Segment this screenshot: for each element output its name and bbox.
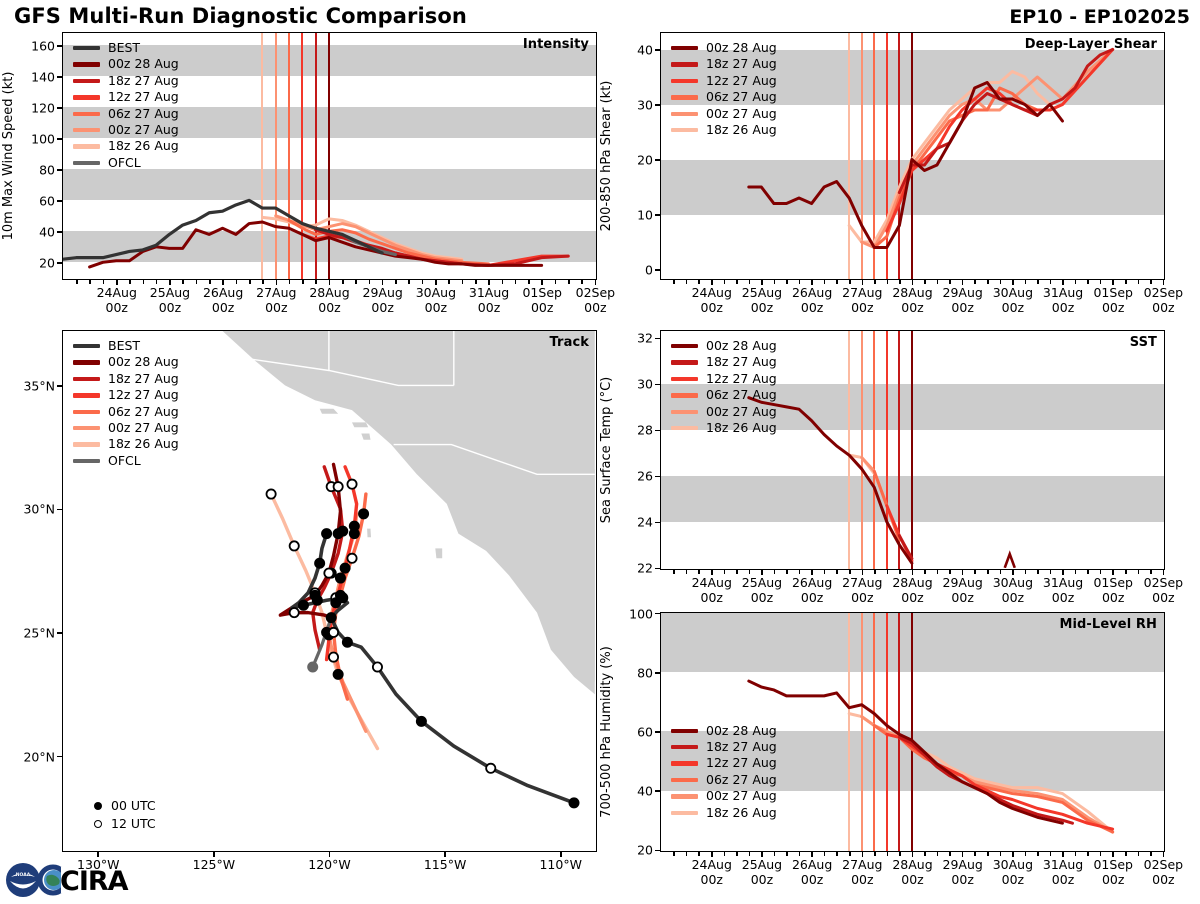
intensity-xtick-minor: [262, 280, 264, 284]
shear-xtick-minor: [937, 280, 939, 284]
xtick-hour: 00z: [701, 872, 723, 887]
intensity-xtick-minor: [89, 280, 91, 284]
track-panel-title: Track: [550, 335, 589, 350]
legend-row: 18z 26 Aug: [671, 122, 777, 138]
rh-xtick-mark: [1012, 852, 1014, 857]
legend-row: BEST: [73, 338, 179, 354]
intensity-xtick-mark: [595, 280, 597, 285]
xtick-hour: 00z: [1052, 590, 1074, 605]
legend-row: 00z 28 Aug: [671, 338, 777, 354]
series-line-18z-27-aug: [899, 50, 1112, 193]
sst-xtick-label: 02Sep00z: [1144, 576, 1183, 605]
intensity-chart-panel: IntensityBEST00z 28 Aug18z 27 Aug12z 27 …: [62, 32, 597, 280]
legend-row: 00z 27 Aug: [671, 404, 777, 420]
shear-yaxis-label: 200-850 hPa Shear (kt): [599, 81, 614, 232]
sst-ytick-mark: [655, 568, 660, 570]
rh-legend-runs: 00z 28 Aug18z 27 Aug12z 27 Aug06z 27 Aug…: [671, 723, 777, 821]
legend-label: 18z 26 Aug: [706, 420, 777, 436]
legend-row: 18z 27 Aug: [671, 56, 777, 72]
xtick-day: 26Aug: [792, 857, 832, 872]
sst-xtick-minor: [937, 570, 939, 574]
sst-xtick-minor: [1050, 570, 1052, 574]
intensity-xtick-minor: [342, 280, 344, 284]
legend-swatch: [73, 128, 100, 132]
xtick-day: 28Aug: [892, 285, 932, 300]
track-marker-open: [290, 541, 299, 550]
shear-xtick-minor: [949, 280, 951, 284]
legend-swatch: [671, 95, 698, 99]
legend-label: 18z 27 Aug: [706, 739, 777, 755]
filled-circle-icon: [94, 802, 102, 810]
xtick-hour: 00z: [751, 300, 773, 315]
legend-label: 18z 26 Aug: [108, 436, 179, 452]
shear-xtick-mark: [1062, 280, 1064, 285]
xtick-hour: 00z: [159, 300, 181, 315]
track-ytick-mark: [57, 756, 62, 758]
intensity-xtick-mark: [435, 280, 437, 285]
shear-panel-title: Deep-Layer Shear: [1025, 37, 1157, 52]
intensity-xtick-mark: [169, 280, 171, 285]
legend-label: 18z 26 Aug: [706, 805, 777, 821]
rh-ytick-label: 80: [620, 665, 653, 680]
intensity-ytick-mark: [57, 45, 62, 47]
xtick-hour: 00z: [1102, 590, 1124, 605]
intensity-xtick-label: 28Aug00z: [309, 286, 349, 315]
track-xtick-mark: [329, 852, 331, 857]
track-marker-filled: [334, 670, 343, 679]
sst-yaxis-label: Sea Surface Temp (°C): [599, 377, 614, 524]
rh-xtick-label: 27Aug00z: [842, 858, 882, 887]
legend-swatch: [73, 459, 100, 463]
shear-xtick-mark: [761, 280, 763, 285]
intensity-xtick-minor: [302, 280, 304, 284]
legend-label: 18z 27 Aug: [706, 56, 777, 72]
rh-xtick-minor: [949, 852, 951, 856]
noaa-logo: NOAA: [6, 863, 40, 897]
intensity-xtick-label: 02Sep00z: [576, 286, 615, 315]
intensity-xtick-minor: [462, 280, 464, 284]
xtick-day: 01Sep: [1093, 285, 1132, 300]
channel-island-a: [320, 409, 338, 414]
legend-label: 12z 27 Aug: [706, 755, 777, 771]
sst-xtick-minor: [1087, 570, 1089, 574]
legend-swatch: [671, 128, 698, 132]
track-ytick-label: 25°N: [14, 625, 55, 640]
track-xtick-mark: [97, 852, 99, 857]
xtick-day: 25Aug: [742, 575, 782, 590]
rh-xtick-minor: [937, 852, 939, 856]
intensity-ytick-mark: [57, 262, 62, 264]
xtick-day: 31Aug: [1043, 285, 1083, 300]
utc-legend-row: 12 UTC: [85, 815, 156, 833]
rh-xtick-minor: [1037, 852, 1039, 856]
xtick-day: 31Aug: [469, 285, 509, 300]
sst-xtick-minor: [974, 570, 976, 574]
xtick-hour: 00z: [851, 300, 873, 315]
intensity-xtick-minor: [448, 280, 450, 284]
shear-xtick-minor: [1000, 280, 1002, 284]
xtick-hour: 00z: [1152, 590, 1174, 605]
legend-swatch: [73, 95, 100, 99]
intensity-xtick-label: 01Sep00z: [522, 286, 561, 315]
intensity-xtick-label: 25Aug00z: [150, 286, 190, 315]
sst-xtick-label: 25Aug00z: [742, 576, 782, 605]
rh-ytick-mark: [655, 613, 660, 615]
sst-xtick-minor: [836, 570, 838, 574]
intensity-xtick-minor: [196, 280, 198, 284]
legend-swatch: [671, 344, 698, 348]
intensity-ytick-label: 60: [22, 193, 55, 208]
rh-xtick-minor: [849, 852, 851, 856]
legend-row: BEST: [73, 40, 179, 56]
rh-xtick-label: 02Sep00z: [1144, 858, 1183, 887]
rh-xtick-minor: [899, 852, 901, 856]
legend-row: 12z 27 Aug: [671, 371, 777, 387]
xtick-day: 24Aug: [97, 285, 137, 300]
xtick-hour: 00z: [1002, 872, 1024, 887]
shear-xtick-mark: [711, 280, 713, 285]
shear-xtick-mark: [1012, 280, 1014, 285]
rh-ytick-label: 40: [620, 784, 653, 799]
intensity-panel-title: Intensity: [523, 37, 589, 52]
rh-xtick-minor: [924, 852, 926, 856]
xtick-day: 02Sep: [1144, 857, 1183, 872]
shear-xtick-mark: [962, 280, 964, 285]
xtick-hour: 00z: [318, 300, 340, 315]
intensity-legend-full: BEST00z 28 Aug18z 27 Aug12z 27 Aug06z 27…: [73, 40, 179, 171]
intensity-xtick-minor: [528, 280, 530, 284]
sst-xtick-minor: [1075, 570, 1077, 574]
utc-legend-marker-wrap: [85, 802, 111, 810]
legend-swatch: [671, 393, 698, 397]
legend-label: 18z 26 Aug: [108, 138, 179, 154]
utc-legend-row: 00 UTC: [85, 797, 156, 815]
shear-chart-panel: Deep-Layer Shear00z 28 Aug18z 27 Aug12z …: [660, 32, 1165, 280]
shear-ytick-mark: [655, 269, 660, 271]
xtick-day: 26Aug: [203, 285, 243, 300]
track-marker-open: [373, 662, 382, 671]
sst-xtick-minor: [686, 570, 688, 574]
sst-chart-panel: SST00z 28 Aug18z 27 Aug12z 27 Aug06z 27 …: [660, 330, 1165, 570]
utc-legend-marker-wrap: [85, 820, 111, 828]
xtick-day: 02Sep: [1144, 575, 1183, 590]
intensity-xtick-minor: [249, 280, 251, 284]
intensity-xtick-mark: [329, 280, 331, 285]
xtick-day: 02Sep: [1144, 285, 1183, 300]
track-ytick-mark: [57, 385, 62, 387]
legend-swatch: [671, 360, 698, 364]
rh-xtick-minor: [698, 852, 700, 856]
xtick-hour: 00z: [212, 300, 234, 315]
intensity-xtick-minor: [395, 280, 397, 284]
legend-row: 00z 27 Aug: [73, 420, 179, 436]
shear-xtick-label: 24Aug00z: [692, 286, 732, 315]
shear-xtick-mark: [1112, 280, 1114, 285]
xtick-hour: 00z: [584, 300, 606, 315]
shear-ytick-mark: [655, 49, 660, 51]
xtick-day: 24Aug: [692, 285, 732, 300]
shear-ytick-mark: [655, 214, 660, 216]
legend-row: 12z 27 Aug: [671, 73, 777, 89]
shear-xtick-label: 27Aug00z: [842, 286, 882, 315]
shear-xtick-mark: [912, 280, 914, 285]
intensity-ytick-mark: [57, 231, 62, 233]
legend-label: 00z 27 Aug: [706, 788, 777, 804]
rh-xtick-minor: [1087, 852, 1089, 856]
intensity-ytick-mark: [57, 200, 62, 202]
shear-ytick-label: 10: [620, 208, 653, 223]
xtick-day: 28Aug: [892, 857, 932, 872]
xtick-hour: 00z: [1052, 872, 1074, 887]
legend-swatch: [671, 79, 698, 83]
utc-legend-label: 12 UTC: [111, 815, 156, 833]
legend-label: 12z 27 Aug: [108, 387, 179, 403]
rh-panel-title: Mid-Level RH: [1059, 617, 1157, 632]
xtick-hour: 00z: [951, 590, 973, 605]
sst-panel-title: SST: [1130, 335, 1157, 350]
legend-swatch: [671, 112, 698, 116]
legend-label: 00z 28 Aug: [108, 354, 179, 370]
legend-row: 00z 28 Aug: [73, 354, 179, 370]
legend-swatch: [73, 144, 100, 148]
legend-label: 00z 27 Aug: [706, 106, 777, 122]
xtick-hour: 00z: [1102, 300, 1124, 315]
shear-xtick-mark: [862, 280, 864, 285]
shear-xtick-minor: [1025, 280, 1027, 284]
rh-xtick-mark: [711, 852, 713, 857]
xtick-day: 30Aug: [416, 285, 456, 300]
track-ytick-mark: [57, 509, 62, 511]
legend-row: 06z 27 Aug: [73, 106, 179, 122]
sst-ytick-mark: [655, 338, 660, 340]
xtick-hour: 00z: [801, 872, 823, 887]
shear-xtick-minor: [673, 280, 675, 284]
xtick-day: 25Aug: [742, 857, 782, 872]
shear-xtick-minor: [1125, 280, 1127, 284]
legend-swatch: [671, 46, 698, 50]
xtick-hour: 00z: [901, 300, 923, 315]
shear-ytick-label: 20: [620, 153, 653, 168]
rh-chart-panel: Mid-Level RH00z 28 Aug18z 27 Aug12z 27 A…: [660, 612, 1165, 852]
rh-xtick-minor: [749, 852, 751, 856]
intensity-xtick-label: 29Aug00z: [363, 286, 403, 315]
legend-label: OFCL: [108, 453, 141, 469]
legend-row: 00z 28 Aug: [671, 723, 777, 739]
intensity-xtick-mark: [541, 280, 543, 285]
track-marker-filled: [336, 573, 345, 582]
legend-row: 00z 27 Aug: [671, 788, 777, 804]
rh-xtick-label: 26Aug00z: [792, 858, 832, 887]
sst-xtick-label: 31Aug00z: [1043, 576, 1083, 605]
rh-xtick-label: 24Aug00z: [692, 858, 732, 887]
track-marker-filled: [338, 593, 347, 602]
legend-swatch: [671, 729, 698, 733]
sst-xtick-minor: [774, 570, 776, 574]
xtick-hour: 00z: [801, 590, 823, 605]
legend-swatch: [73, 112, 100, 116]
shear-xtick-label: 26Aug00z: [792, 286, 832, 315]
legend-swatch: [671, 778, 698, 782]
track-marker-open: [347, 480, 356, 489]
sst-xtick-minor: [899, 570, 901, 574]
rh-xtick-minor: [987, 852, 989, 856]
shear-ytick-label: 30: [620, 98, 653, 113]
track-xtick-mark: [213, 852, 215, 857]
legend-row: 12z 27 Aug: [73, 89, 179, 105]
sst-ytick-label: 24: [620, 515, 653, 530]
track-marker-filled: [299, 601, 308, 610]
track-marker-filled: [334, 529, 343, 538]
rh-xtick-minor: [824, 852, 826, 856]
xtick-hour: 00z: [1102, 872, 1124, 887]
rh-xtick-mark: [1112, 852, 1114, 857]
legend-row: 00z 28 Aug: [671, 40, 777, 56]
rh-xtick-mark: [761, 852, 763, 857]
utc-legend-label: 00 UTC: [111, 797, 156, 815]
legend-label: BEST: [108, 40, 140, 56]
track-marker-filled: [350, 522, 359, 531]
sst-xtick-label: 30Aug00z: [993, 576, 1033, 605]
shear-xtick-label: 25Aug00z: [742, 286, 782, 315]
intensity-xtick-mark: [382, 280, 384, 285]
legend-swatch: [73, 410, 100, 414]
xtick-hour: 00z: [425, 300, 447, 315]
legend-row: 00z 27 Aug: [671, 106, 777, 122]
legend-row: 18z 27 Aug: [73, 73, 179, 89]
sst-xtick-mark: [1163, 570, 1165, 575]
shear-xtick-label: 31Aug00z: [1043, 286, 1083, 315]
legend-row: 18z 26 Aug: [671, 420, 777, 436]
sst-ytick-label: 30: [620, 377, 653, 392]
legend-label: 12z 27 Aug: [706, 73, 777, 89]
intensity-xtick-minor: [502, 280, 504, 284]
legend-label: 18z 26 Aug: [706, 122, 777, 138]
sst-xtick-label: 28Aug00z: [892, 576, 932, 605]
sst-xtick-minor: [1037, 570, 1039, 574]
legend-label: 06z 27 Aug: [706, 772, 777, 788]
legend-row: 12z 27 Aug: [671, 755, 777, 771]
legend-label: 00z 27 Aug: [108, 122, 179, 138]
xtick-hour: 00z: [701, 590, 723, 605]
intensity-xtick-mark: [222, 280, 224, 285]
legend-row: 18z 27 Aug: [73, 371, 179, 387]
track-ytick-label: 30°N: [14, 502, 55, 517]
legend-label: 06z 27 Aug: [706, 89, 777, 105]
xtick-day: 27Aug: [256, 285, 296, 300]
xtick-day: 01Sep: [1093, 857, 1132, 872]
series-line-12z-27-aug: [887, 50, 1113, 232]
legend-row: 18z 27 Aug: [671, 354, 777, 370]
sst-xtick-mark: [761, 570, 763, 575]
sst-xtick-mark: [811, 570, 813, 575]
legend-swatch: [73, 377, 100, 381]
rh-xtick-minor: [736, 852, 738, 856]
rh-xtick-minor: [1100, 852, 1102, 856]
intensity-ytick-mark: [57, 107, 62, 109]
shear-xtick-minor: [1050, 280, 1052, 284]
track-xtick-label: 130°W: [77, 858, 119, 873]
sst-xtick-mark: [862, 570, 864, 575]
rh-xtick-minor: [1075, 852, 1077, 856]
intensity-ytick-label: 140: [22, 69, 55, 84]
sst-ytick-label: 26: [620, 469, 653, 484]
intensity-xtick-mark: [488, 280, 490, 285]
track-xtick-mark: [560, 852, 562, 857]
xtick-day: 28Aug: [892, 575, 932, 590]
track-marker-filled-gray: [308, 662, 317, 671]
xtick-hour: 00z: [851, 590, 873, 605]
sst-ytick-mark: [655, 384, 660, 386]
xtick-day: 29Aug: [363, 285, 403, 300]
intensity-xtick-mark: [116, 280, 118, 285]
sst-xtick-mark: [1112, 570, 1114, 575]
sst-xtick-mark: [912, 570, 914, 575]
sst-ytick-label: 22: [620, 561, 653, 576]
shear-legend-runs: 00z 28 Aug18z 27 Aug12z 27 Aug06z 27 Aug…: [671, 40, 777, 138]
intensity-ytick-mark: [57, 138, 62, 140]
legend-label: 06z 27 Aug: [108, 404, 179, 420]
xtick-hour: 00z: [106, 300, 128, 315]
track-marker-filled: [322, 529, 331, 538]
intensity-ytick-mark: [57, 76, 62, 78]
xtick-day: 01Sep: [1093, 575, 1132, 590]
legend-label: 00z 27 Aug: [706, 404, 777, 420]
sst-xtick-minor: [849, 570, 851, 574]
legend-row: 06z 27 Aug: [671, 89, 777, 105]
shear-xtick-minor: [1138, 280, 1140, 284]
shear-xtick-minor: [849, 280, 851, 284]
xtick-day: 26Aug: [792, 285, 832, 300]
shear-xtick-minor: [899, 280, 901, 284]
shear-xtick-minor: [987, 280, 989, 284]
shear-xtick-minor: [874, 280, 876, 284]
xtick-hour: 00z: [1002, 300, 1024, 315]
track-marker-open: [329, 653, 338, 662]
sst-xtick-minor: [887, 570, 889, 574]
legend-row: 00z 28 Aug: [73, 56, 179, 72]
intensity-xtick-minor: [129, 280, 131, 284]
xtick-day: 25Aug: [150, 285, 190, 300]
xtick-hour: 00z: [478, 300, 500, 315]
shear-xtick-minor: [698, 280, 700, 284]
legend-swatch: [73, 360, 100, 364]
rh-xtick-mark: [912, 852, 914, 857]
rh-xtick-minor: [1125, 852, 1127, 856]
track-marker-filled: [417, 717, 426, 726]
legend-swatch: [671, 794, 698, 798]
shear-xtick-label: 28Aug00z: [892, 286, 932, 315]
legend-row: 12z 27 Aug: [73, 387, 179, 403]
track-map-panel: TrackBEST00z 28 Aug18z 27 Aug12z 27 Aug0…: [62, 330, 597, 852]
rh-xtick-mark: [862, 852, 864, 857]
shear-xtick-label: 30Aug00z: [993, 286, 1033, 315]
shear-xtick-minor: [974, 280, 976, 284]
intensity-xtick-minor: [581, 280, 583, 284]
rh-xtick-minor: [724, 852, 726, 856]
rh-xtick-label: 28Aug00z: [892, 858, 932, 887]
legend-row: 18z 26 Aug: [73, 436, 179, 452]
storm-id-title: EP10 - EP102025: [1009, 6, 1190, 28]
intensity-xtick-mark: [276, 280, 278, 285]
legend-label: 00z 28 Aug: [108, 56, 179, 72]
legend-swatch: [73, 442, 100, 446]
legend-row: 00z 27 Aug: [73, 122, 179, 138]
track-marker-filled: [359, 509, 368, 518]
legend-row: 18z 26 Aug: [73, 138, 179, 154]
shear-ytick-mark: [655, 159, 660, 161]
track-xtick-label: 125°W: [193, 858, 235, 873]
intensity-ytick-label: 40: [22, 224, 55, 239]
